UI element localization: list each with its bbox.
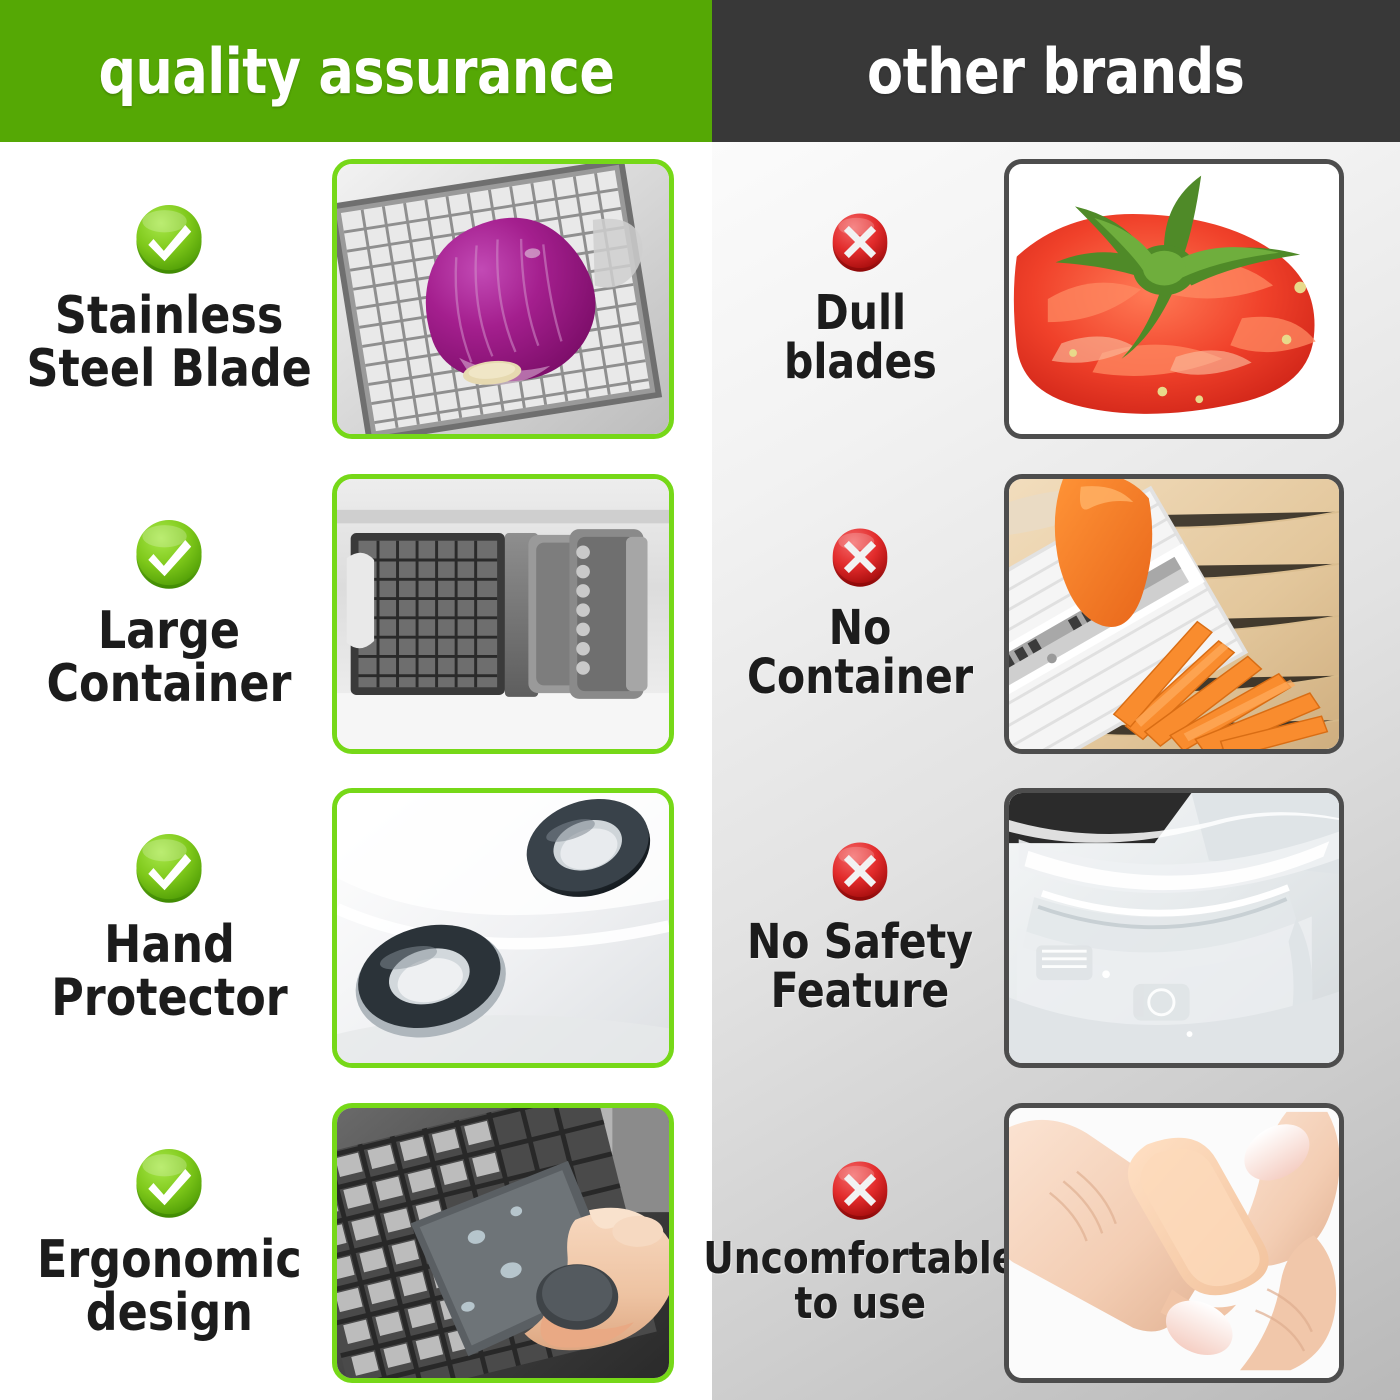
caption-line-2: Container <box>747 653 973 702</box>
carrot-on-mandoline-slicer-photo <box>1004 474 1344 754</box>
header-left-title: quality assurance <box>98 35 614 108</box>
check-circle-icon <box>132 517 206 591</box>
bandage-finger-illustration <box>1009 1108 1339 1378</box>
chopper-container-with-blade-photo <box>332 474 674 754</box>
tomato-illustration <box>1009 164 1339 434</box>
caption-line-2: Container <box>47 658 292 711</box>
quality-assurance-column: Stainless Steel Blade <box>0 142 712 1400</box>
cross-circle-icon <box>829 526 891 588</box>
check-circle-icon <box>132 202 206 276</box>
cross-circle-icon <box>829 211 891 273</box>
caption-line-2: Feature <box>747 967 973 1016</box>
drawback-row-no-safety-feature: No Safety Feature <box>712 771 1400 1086</box>
red-onion-on-steel-grid-blade-photo <box>332 159 674 439</box>
caption-line-1: Large <box>47 605 292 658</box>
drawback-label-uncomfortable-to-use: Uncomfortable to use <box>716 1159 1004 1327</box>
caption-line-1: Ergonomic <box>37 1234 302 1287</box>
container-illustration <box>337 479 669 749</box>
caption-line-2: blades <box>784 338 937 387</box>
feature-caption: Large Container <box>47 605 292 711</box>
feature-label-ergonomic-design: Ergonomic design <box>6 1146 332 1340</box>
comparison-infographic: quality assurance other brands <box>0 0 1400 1400</box>
bandaged-finger-photo <box>1004 1103 1344 1383</box>
header-bar: quality assurance other brands <box>0 0 1400 142</box>
caption-line-2: design <box>37 1287 302 1340</box>
caption-line-1: No Safety <box>747 918 973 967</box>
white-hand-protector-with-grip-rings-photo <box>332 788 674 1068</box>
drawback-label-dull-blades: Dull blades <box>716 211 1004 387</box>
check-circle-icon <box>132 1146 206 1220</box>
feature-row-ergonomic-design: Ergonomic design <box>0 1086 712 1400</box>
cross-circle-icon <box>829 1159 891 1221</box>
caption-line-1: No <box>747 604 973 653</box>
feature-label-hand-protector: Hand Protector <box>6 831 332 1025</box>
hand-blade-illustration <box>337 1108 669 1378</box>
drawback-label-no-safety-feature: No Safety Feature <box>716 840 1004 1016</box>
feature-row-hand-protector: Hand Protector <box>0 771 712 1086</box>
header-other-brands: other brands <box>712 0 1400 142</box>
plastic-container-illustration <box>1009 793 1339 1063</box>
header-quality-assurance: quality assurance <box>0 0 712 142</box>
feature-label-stainless-steel-blade: Stainless Steel Blade <box>6 202 332 396</box>
caption-line-1: Hand <box>51 919 287 972</box>
mandoline-carrot-illustration <box>1009 479 1339 749</box>
caption-line-2: to use <box>703 1282 1017 1327</box>
check-circle-icon <box>132 831 206 905</box>
drawback-row-uncomfortable-to-use: Uncomfortable to use <box>712 1086 1400 1400</box>
feature-row-stainless-steel-blade: Stainless Steel Blade <box>0 142 712 457</box>
hand-holding-wet-blade-insert-photo <box>332 1103 674 1383</box>
drawback-label-no-container: No Container <box>716 526 1004 702</box>
drawback-caption: Uncomfortable to use <box>703 1237 1017 1327</box>
other-brands-column: Dull blades <box>712 142 1400 1400</box>
feature-label-large-container: Large Container <box>6 517 332 711</box>
feature-caption: Stainless Steel Blade <box>26 290 311 396</box>
caption-line-1: Uncomfortable <box>703 1237 1017 1282</box>
drawback-row-no-container: No Container <box>712 457 1400 772</box>
cross-circle-icon <box>829 840 891 902</box>
feature-caption: Hand Protector <box>51 919 287 1025</box>
caption-line-2: Protector <box>51 972 287 1025</box>
hand-protector-illustration <box>337 793 669 1063</box>
drawback-caption: No Safety Feature <box>747 918 973 1016</box>
feature-row-large-container: Large Container <box>0 457 712 772</box>
clear-plastic-container-photo <box>1004 788 1344 1068</box>
drawback-caption: No Container <box>747 604 973 702</box>
drawback-caption: Dull blades <box>784 289 937 387</box>
header-right-title: other brands <box>867 35 1244 108</box>
crushed-tomato-photo <box>1004 159 1344 439</box>
onion-grid-illustration <box>337 164 669 434</box>
feature-caption: Ergonomic design <box>37 1234 302 1340</box>
caption-line-1: Stainless <box>26 290 311 343</box>
caption-line-1: Dull <box>784 289 937 338</box>
drawback-row-dull-blades: Dull blades <box>712 142 1400 457</box>
comparison-body: Stainless Steel Blade <box>0 142 1400 1400</box>
caption-line-2: Steel Blade <box>26 343 311 396</box>
